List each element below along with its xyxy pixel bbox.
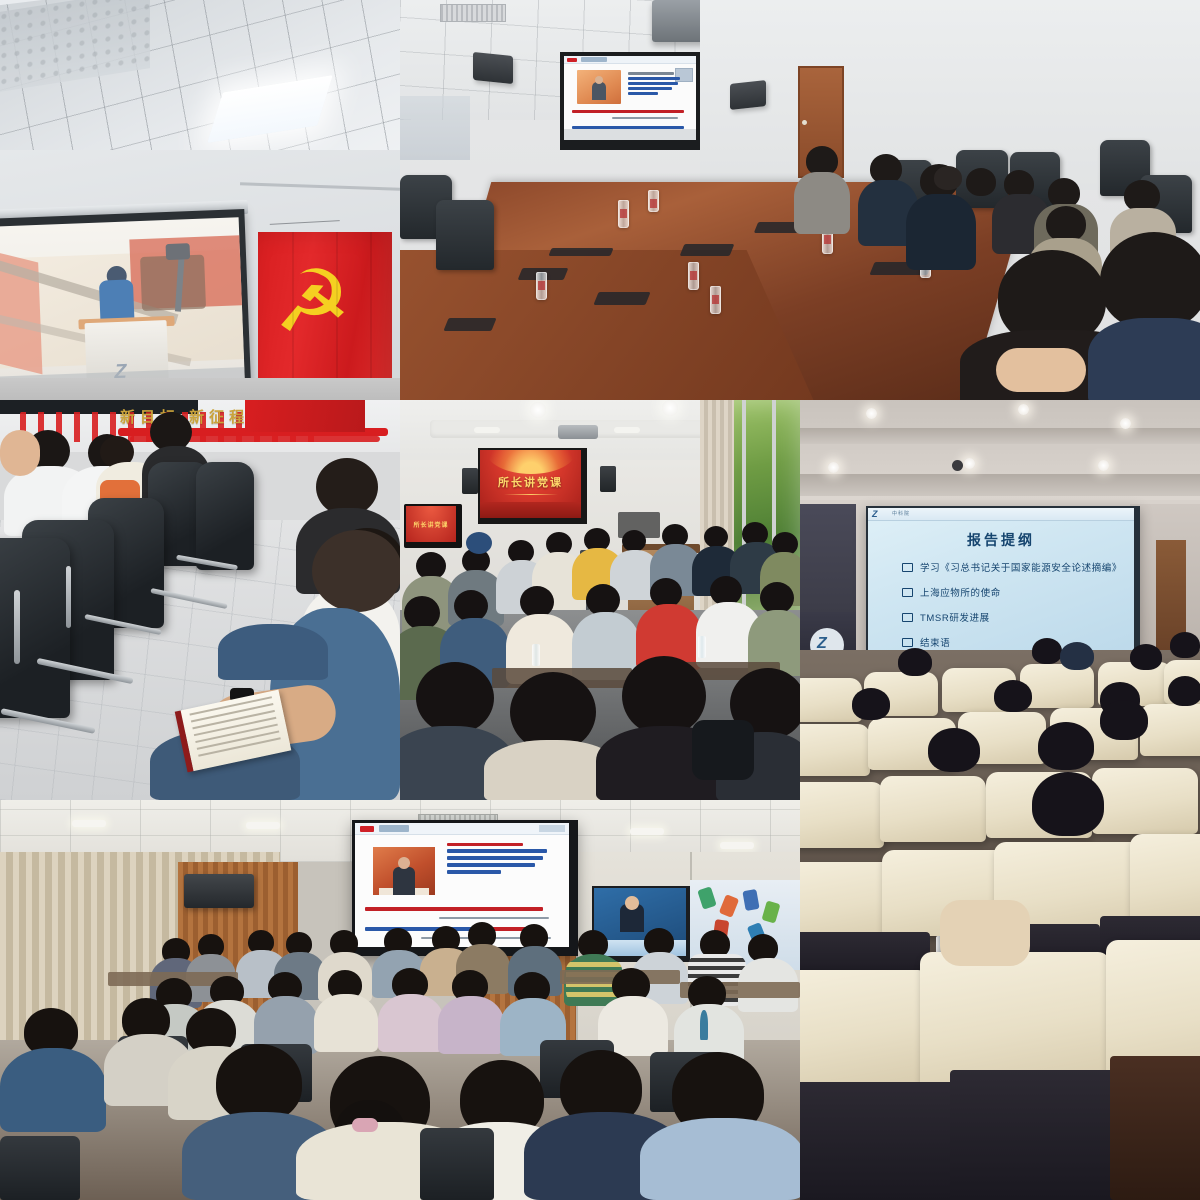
wall-speaker-right	[730, 80, 766, 110]
communist-party-flag: ☭	[258, 232, 392, 400]
quote-line	[628, 92, 658, 95]
auditorium-seat	[1140, 704, 1200, 756]
wall-speaker-right	[600, 466, 616, 492]
sanitizer-bottle	[648, 190, 659, 212]
outline-item-label: 结束语	[920, 635, 950, 649]
attendee-head	[622, 530, 646, 552]
security-camera-dome	[952, 460, 963, 471]
auditorium-seat	[800, 970, 930, 1090]
attendee-arm	[0, 430, 40, 476]
report-outline-slide: Z 中科院 报告提纲 学习《习总书记关于国家能源安全论述摘编》 上海应物所的使命…	[868, 508, 1134, 659]
photo-head	[595, 76, 603, 84]
foreground-head	[312, 530, 400, 612]
slide-top-bar	[355, 823, 569, 835]
auditorium-seat	[880, 776, 986, 842]
slide-corner-note	[539, 825, 565, 832]
auditorium-seat	[920, 952, 1110, 1088]
slide-sunburst-graphic	[486, 450, 576, 474]
attendee-trousers	[218, 624, 328, 680]
meeting-chair	[0, 538, 70, 718]
attendee-head	[404, 596, 440, 630]
slide-speaker-photo	[577, 70, 621, 104]
slide-bullet-1	[365, 907, 543, 911]
hammer-sickle-icon: ☭	[274, 256, 372, 348]
panel-conference-room-session	[400, 0, 1200, 400]
attendee-head	[934, 166, 962, 190]
panel-large-hall-study-session	[0, 800, 800, 1200]
attendee-head	[1032, 638, 1062, 664]
slide-outline-list: 学习《习总书记关于国家能源安全论述摘编》 上海应物所的使命 TMSR研发进展 结…	[902, 560, 1132, 659]
panel-lecture-room-director-class: 所长讲党课 所长讲党课	[400, 400, 800, 800]
slide-footer	[564, 129, 696, 140]
slide-top-bar: Z 中科院	[868, 508, 1134, 521]
microphone-strip	[548, 248, 613, 256]
attendee-head	[1038, 722, 1094, 770]
slide-brand-text: 中科院	[892, 510, 910, 517]
slide-logo-icon	[567, 58, 577, 62]
institute-logo-icon: Z	[872, 510, 888, 518]
ceiling-led-strip	[614, 427, 640, 433]
board-graphic	[719, 894, 739, 918]
monitor-speaker-head	[625, 896, 639, 910]
attendee-body	[314, 994, 378, 1052]
attendee-head	[852, 688, 890, 720]
hall-chair	[0, 1136, 80, 1200]
attendee-head	[1032, 772, 1104, 836]
board-graphic	[697, 886, 716, 909]
party-lecture-slide: 所长讲党课	[480, 450, 581, 518]
quote-line	[628, 87, 672, 90]
quote-header-line	[447, 843, 523, 846]
water-bottle	[618, 200, 629, 228]
water-bottle	[710, 286, 721, 314]
backpack	[692, 720, 754, 780]
auditorium-seat	[1092, 768, 1198, 834]
slide-quote-block	[628, 72, 682, 97]
chair-leg	[14, 590, 20, 664]
attendee-head	[1130, 644, 1162, 670]
checkbox-icon	[902, 563, 913, 572]
checkbox-icon	[902, 638, 913, 647]
foreground-attendee-arm	[996, 348, 1086, 392]
attendee-head	[1100, 700, 1148, 740]
feed-camera-head	[166, 243, 191, 260]
slide-top-bar	[564, 56, 696, 64]
slide-bullet-1-source	[612, 117, 678, 119]
quote-line	[447, 870, 501, 874]
quote-line	[628, 77, 680, 80]
photo-head	[398, 857, 410, 869]
quote-header-line	[628, 72, 674, 75]
air-vent	[440, 4, 506, 22]
outline-item-label: TMSR研发进展	[920, 610, 990, 624]
attendee-head	[898, 648, 932, 676]
chair-leg	[66, 566, 71, 628]
auditorium-seat	[800, 724, 870, 776]
slide-mountain-graphic	[480, 502, 581, 518]
seat-base	[1110, 1056, 1200, 1200]
foreground-head	[216, 1044, 302, 1122]
ceiling-band	[800, 474, 1200, 496]
attendee-body	[794, 172, 850, 234]
slide-brand-text	[581, 57, 607, 62]
downlight	[530, 402, 546, 418]
party-flag-corner	[245, 400, 365, 432]
slide-quote-block	[447, 843, 553, 877]
attendee-head	[1046, 206, 1086, 242]
slide-brand-text	[379, 825, 409, 832]
office-chair	[436, 200, 494, 270]
slide-title: 报告提纲	[868, 530, 1134, 550]
lower-wall-strip	[0, 378, 400, 400]
attendee-head	[1168, 676, 1200, 706]
water-bottle	[536, 272, 547, 300]
quote-line	[628, 82, 678, 85]
table-mat	[593, 292, 650, 305]
attendee-body	[0, 1048, 106, 1132]
outline-item: 结束语	[902, 635, 1132, 649]
water-bottle	[532, 644, 540, 666]
feed-background-chairs	[140, 255, 206, 311]
checkbox-icon	[902, 588, 913, 597]
attendee-lanyard	[700, 1010, 708, 1040]
downlight	[964, 458, 975, 469]
side-tv-screen: 所长讲党课	[406, 506, 456, 542]
slide-divider	[504, 494, 558, 495]
attendee-body	[378, 994, 444, 1052]
wall-speaker-left	[473, 52, 513, 84]
meeting-chair	[196, 462, 254, 570]
downlight	[1098, 460, 1109, 471]
outline-item: 学习《习总书记关于国家能源安全论述摘编》	[902, 560, 1132, 574]
attendee-head	[704, 526, 728, 548]
water-bottle	[698, 636, 706, 658]
outline-item: TMSR研发进展	[902, 610, 1132, 624]
seat-base	[800, 1082, 960, 1200]
photo-collage: Z ☭	[0, 0, 1200, 1200]
foreground-head	[416, 662, 494, 734]
ceiling-led-strip	[474, 427, 500, 433]
panel-meeting-room-live-broadcast: Z ☭	[0, 0, 400, 400]
water-bottle	[688, 262, 699, 290]
quote-line	[447, 863, 535, 867]
table-mat	[680, 244, 735, 256]
ceiling-band	[800, 428, 1200, 444]
auditorium-seat	[800, 782, 884, 848]
checkbox-icon	[902, 613, 913, 622]
door-knob-icon	[802, 120, 807, 125]
foreground-attendee-head	[1100, 232, 1200, 330]
seat-base	[950, 1070, 1130, 1200]
ceiling-led-strip	[246, 822, 280, 829]
side-tv-title: 所长讲党课	[406, 520, 456, 529]
attendee-head-with-cap	[1060, 642, 1094, 670]
ceiling-led-strip	[720, 842, 754, 849]
slide-speaker-photo	[373, 847, 435, 895]
slide-logo-icon	[360, 826, 374, 832]
attendee-body	[906, 194, 976, 270]
downlight	[1018, 404, 1029, 415]
attendee-head	[994, 680, 1032, 712]
wall-speaker	[184, 874, 254, 908]
downlight	[866, 408, 877, 419]
attendee-head	[1170, 632, 1200, 658]
projection-live-feed: Z	[0, 217, 245, 400]
foreground-body	[640, 1118, 800, 1200]
attendee-head-with-cap	[466, 532, 492, 554]
board-graphic	[742, 889, 759, 911]
attendee-head	[928, 728, 980, 772]
hall-chair	[420, 1128, 494, 1200]
slide-bullet-1	[572, 110, 684, 113]
attendee-body	[438, 996, 504, 1054]
quote-line	[447, 856, 543, 860]
slide-bullet-1-source	[439, 917, 549, 919]
downlight	[1120, 418, 1131, 429]
quote-line	[447, 849, 547, 853]
side-window	[400, 96, 470, 160]
photo-body	[393, 867, 415, 895]
ceiling-led-strip	[630, 828, 664, 835]
panel-party-classroom-attendees: 新目标 新征程	[0, 400, 400, 800]
auditorium-seat	[1130, 834, 1200, 928]
outline-item-label: 学习《习总书记关于国家能源安全论述摘编》	[920, 560, 1122, 574]
presentation-slide	[564, 56, 696, 140]
downlight	[662, 400, 678, 416]
ceiling-projector	[558, 425, 598, 439]
attendee-head	[966, 168, 996, 196]
hair-tie	[352, 1118, 378, 1132]
table-mat	[443, 318, 496, 331]
board-graphic	[762, 900, 781, 923]
attendee-shoulder	[940, 900, 1030, 966]
slide-title: 所长讲党课	[480, 474, 581, 490]
foreground-attendee-body	[1088, 318, 1200, 400]
photo-body	[592, 82, 606, 100]
outline-item-label: 上海应物所的使命	[920, 585, 1001, 599]
panel-auditorium-report-outline: Z 中科院 报告提纲 学习《习总书记关于国家能源安全论述摘编》 上海应物所的使命…	[800, 400, 1200, 1200]
downlight	[828, 462, 839, 473]
wall-speaker-left	[462, 468, 478, 494]
ceiling-led-strip	[72, 820, 106, 827]
outline-item: 上海应物所的使命	[902, 585, 1132, 599]
